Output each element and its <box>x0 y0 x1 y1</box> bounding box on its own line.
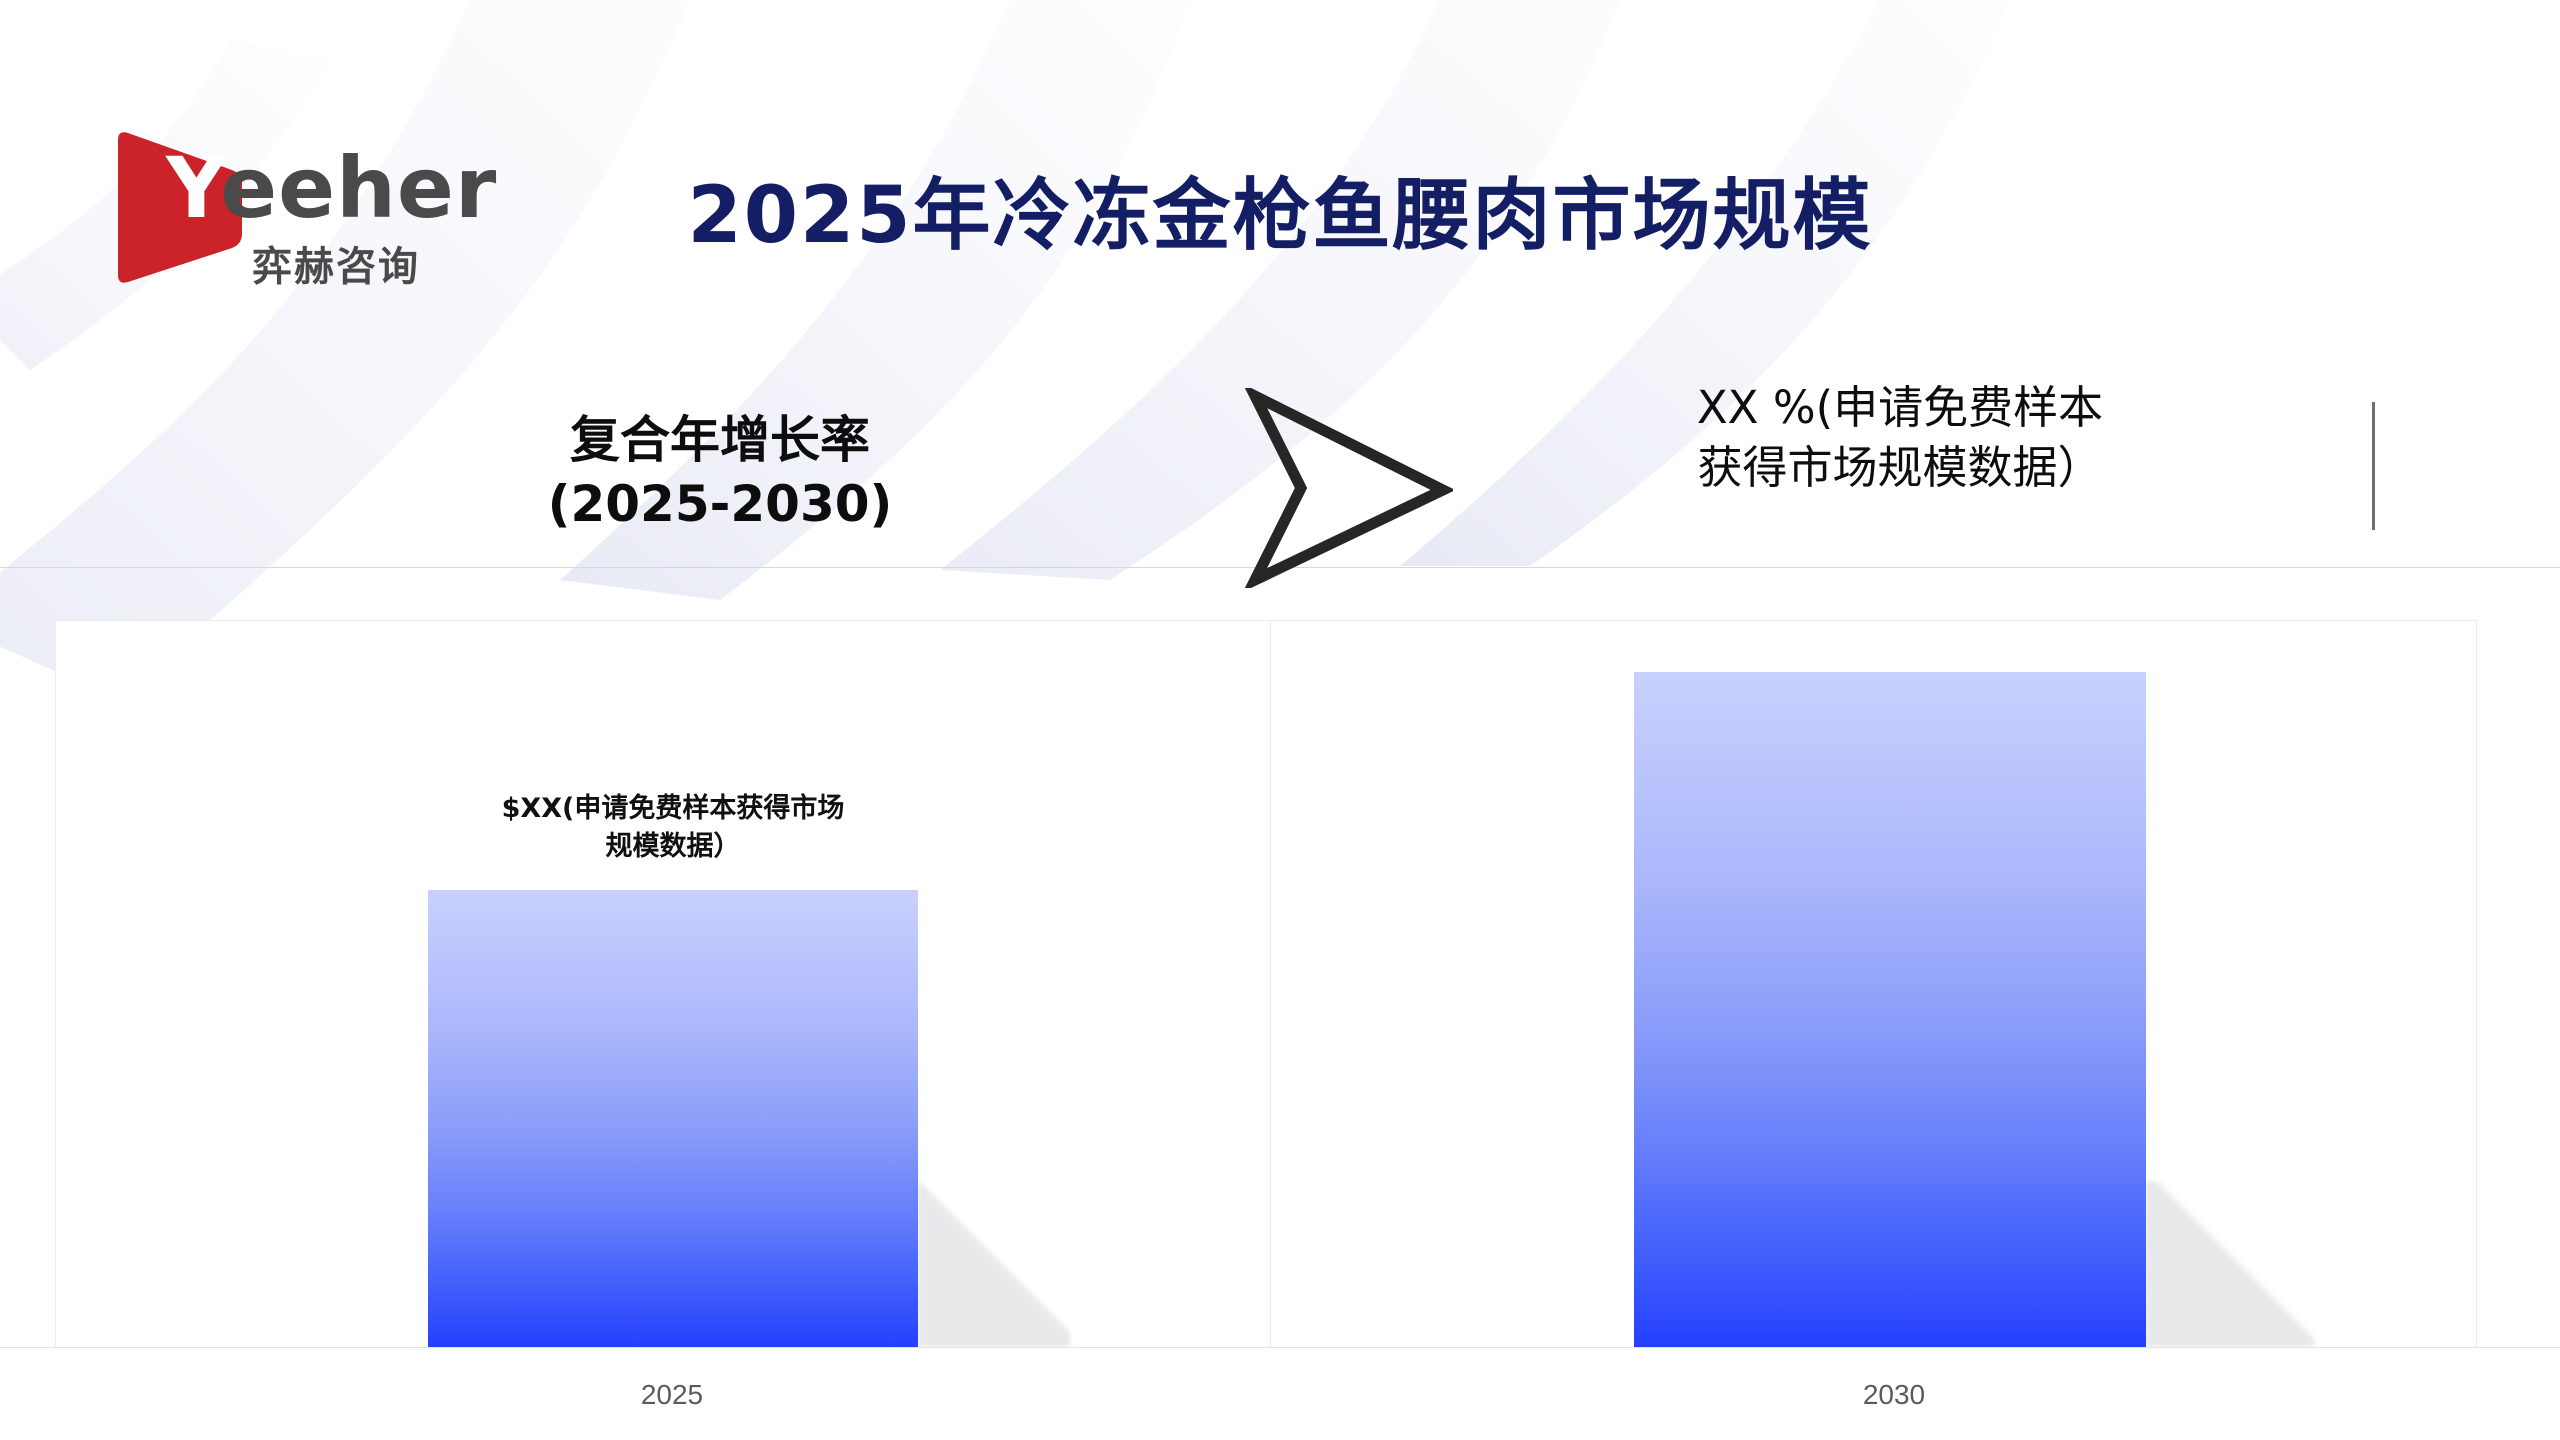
arrow-right-outline-svg <box>1243 388 1453 588</box>
cagr-label-line1: 复合年增长率 <box>480 408 960 472</box>
cagr-label: 复合年增长率 (2025-2030) <box>480 408 960 536</box>
page-title: 2025年冷冻金枪鱼腰肉市场规模 <box>560 168 2000 264</box>
bar-data-label-2025-line1: $XX(申请免费样本获得市场 <box>433 790 913 828</box>
value-callout-line2: 获得市场规模数据） <box>1650 438 2150 498</box>
arrow-right-outline-icon <box>1243 388 1453 588</box>
callout-tick-mark <box>2372 402 2375 530</box>
bar-data-label-2025: $XX(申请免费样本获得市场 规模数据） <box>433 790 913 866</box>
chart-panel-divider <box>1270 620 1271 1348</box>
bar-shadow-2025 <box>918 1183 1070 1347</box>
logo-wordmark-initial: Y <box>166 139 220 237</box>
value-callout: XX %(申请免费样本 获得市场规模数据） <box>1650 378 2150 498</box>
logo-wordmark-rest: eeher <box>220 139 497 237</box>
logo-wordmark: Yeeher <box>166 142 497 234</box>
value-callout-line1: XX %(申请免费样本 <box>1650 378 2150 438</box>
axis-tick-2025: 2025 <box>432 1378 912 1412</box>
axis-tick-2030: 2030 <box>1638 1378 2150 1412</box>
brand-logo: Yeeher 弈赫咨询 <box>112 112 492 302</box>
logo-wordmark-group: Yeeher 弈赫咨询 <box>166 134 496 284</box>
bar-2025[interactable] <box>428 890 918 1347</box>
cagr-label-line2: (2025-2030) <box>480 472 960 536</box>
slide-canvas: Yeeher 弈赫咨询 2025年冷冻金枪鱼腰肉市场规模 复合年增长率 (202… <box>0 0 2560 1440</box>
bar-2030[interactable] <box>1634 672 2146 1347</box>
bar-data-label-2025-line2: 规模数据） <box>433 828 913 866</box>
bar-shadow-2030 <box>2146 1181 2314 1347</box>
logo-subtitle: 弈赫咨询 <box>252 234 420 292</box>
chart-baseline <box>0 1347 2560 1348</box>
